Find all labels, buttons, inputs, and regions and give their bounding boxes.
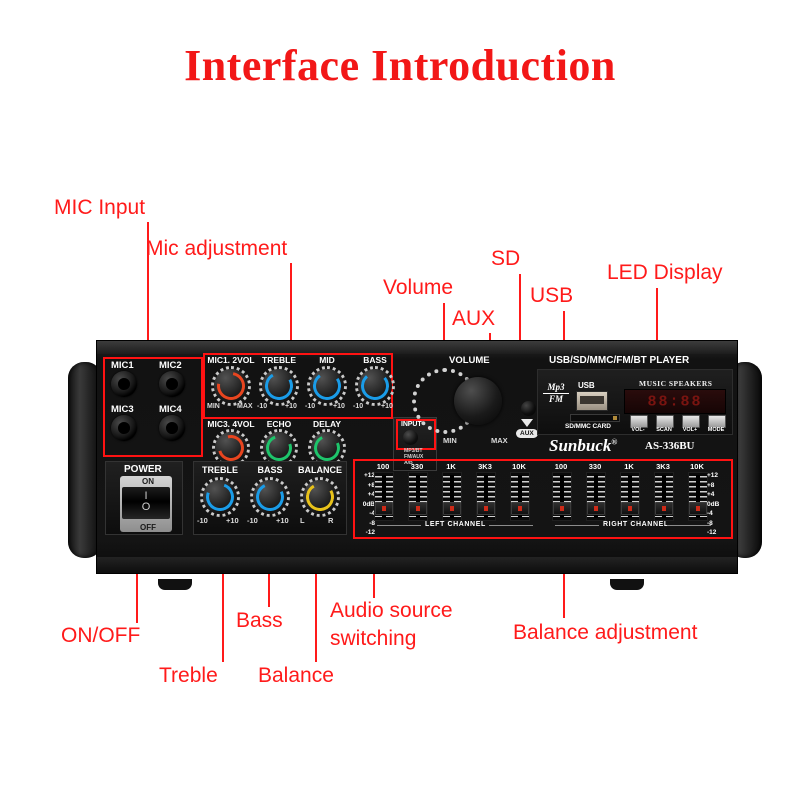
- power-label: POWER: [124, 464, 162, 475]
- eq-slider-r-10k[interactable]: [688, 472, 708, 521]
- brand-name: Sunbuck®: [549, 436, 617, 456]
- power-switch[interactable]: ON I O OFF: [120, 476, 172, 532]
- player-header: USB/SD/MMC/FM/BT PLAYER: [549, 355, 689, 366]
- led-display-value: 88:88: [625, 393, 725, 410]
- button-vol-down-label: VOL-: [624, 427, 652, 433]
- knob-treble-top-max: +10: [285, 403, 297, 410]
- panel-top-trim: [97, 341, 737, 354]
- front-panel: MIC1 MIC2 MIC3 MIC4 MIC1. 2VOL MIN MAX T…: [96, 340, 738, 574]
- knob-balance-min: L: [300, 516, 305, 525]
- chassis-foot-right: [610, 579, 644, 590]
- db-right-6: -12: [707, 530, 725, 540]
- knob-treble-bottom-min: -10: [197, 516, 208, 525]
- amplifier-unit: MIC1 MIC2 MIC3 MIC4 MIC1. 2VOL MIN MAX T…: [62, 340, 768, 580]
- eq-slider-l-10k[interactable]: [510, 472, 530, 521]
- aux-pointer-icon: [521, 419, 533, 427]
- knob-delay-label: DELAY: [301, 419, 353, 429]
- eq-freq-r-330: 330: [581, 462, 609, 471]
- leader-mic-input: [147, 222, 149, 352]
- knob-bass-top-min: -10: [353, 403, 363, 410]
- annotation-aux: AUX: [452, 308, 495, 330]
- db-scale-left: +12 +8 +4 0dB -4 -8 -12: [357, 473, 375, 540]
- annotation-balance: Balance: [258, 665, 334, 687]
- button-scan-label: SCAN: [650, 427, 678, 433]
- right-channel-label: RIGHT CHANNEL: [603, 521, 669, 528]
- knob-treble-bottom-max: +10: [226, 516, 239, 525]
- knob-balance-max: R: [328, 516, 333, 525]
- power-group: POWER ON I O OFF: [105, 461, 183, 535]
- power-symbol-off: O: [122, 501, 170, 513]
- input-selector-knob[interactable]: [403, 430, 418, 445]
- db-scale-right: +12 +8 +4 0dB -4 -8 -12: [707, 473, 725, 540]
- eq-freq-r-3k3: 3K3: [649, 462, 677, 471]
- panel-bottom-trim: [97, 557, 737, 573]
- led-display: 88:88: [624, 389, 726, 414]
- eq-slider-r-100[interactable]: [552, 472, 572, 521]
- annotation-audio-source-line2: switching: [330, 628, 416, 650]
- knob-mic3-4vol[interactable]: MIC3. 4VOL MIN MAX: [209, 419, 253, 467]
- eq-freq-r-10k: 10K: [683, 462, 711, 471]
- knob-bass-top[interactable]: BASS -10 +10: [353, 355, 397, 405]
- mic1-jack[interactable]: [111, 371, 137, 397]
- knob-treble-top-min: -10: [257, 403, 267, 410]
- knob-mic1-2vol-max: MAX: [237, 403, 253, 410]
- sd-card-label: SD/MMC CARD: [565, 423, 611, 430]
- sd-card-slot[interactable]: [570, 414, 620, 422]
- knob-balance-label: BALANCE: [294, 465, 346, 475]
- knob-mic1-2vol-label: MIC1. 2VOL: [205, 355, 257, 365]
- knob-mic1-2vol[interactable]: MIC1. 2VOL MIN MAX: [209, 355, 253, 405]
- eq-freq-r-1k: 1K: [615, 462, 643, 471]
- knob-bass-bottom[interactable]: BASS -10 +10: [247, 465, 293, 527]
- mic2-label: MIC2: [159, 360, 182, 371]
- eq-freq-l-330: 330: [403, 462, 431, 471]
- button-mode-label: MODE: [702, 427, 730, 433]
- annotation-led-display: LED Display: [607, 262, 723, 284]
- knob-bass-bottom-min: -10: [247, 516, 258, 525]
- mic4-label: MIC4: [159, 404, 182, 415]
- mic4-jack[interactable]: [159, 415, 185, 441]
- right-channel-rule-a: [555, 525, 599, 526]
- eq-freq-l-100: 100: [369, 462, 397, 471]
- eq-slider-l-330[interactable]: [408, 472, 428, 521]
- knob-mid-max: +10: [333, 403, 345, 410]
- annotation-sd: SD: [491, 248, 520, 270]
- usb-label: USB: [578, 381, 595, 390]
- chassis-foot-left: [158, 579, 192, 590]
- source-label-mp3: Mp3: [543, 382, 569, 394]
- power-off-label: OFF: [122, 523, 174, 532]
- knob-treble-top[interactable]: TREBLE -10 +10: [257, 355, 301, 405]
- knob-echo-label: ECHO: [253, 419, 305, 429]
- knob-echo[interactable]: ECHO MIN MAX: [257, 419, 301, 467]
- annotation-bass: Bass: [236, 610, 283, 632]
- annotation-volume: Volume: [383, 277, 453, 299]
- knob-delay[interactable]: DELAY S L: [305, 419, 349, 467]
- annotation-treble: Treble: [159, 665, 218, 687]
- eq-freq-l-1k: 1K: [437, 462, 465, 471]
- knob-mid-min: -10: [305, 403, 315, 410]
- brand-trademark: ®: [611, 437, 617, 446]
- equalizer-section: +12 +8 +4 0dB -4 -8 -12 100 330 1K 3K3 1…: [355, 461, 727, 533]
- volume-min: MIN: [443, 436, 457, 445]
- annotation-usb: USB: [530, 285, 573, 307]
- mic2-jack[interactable]: [159, 371, 185, 397]
- knob-mic1-2vol-min: MIN: [207, 403, 220, 410]
- eq-slider-r-330[interactable]: [586, 472, 606, 521]
- knob-bass-top-label: BASS: [349, 355, 401, 365]
- eq-slider-l-100[interactable]: [374, 472, 394, 521]
- knob-balance[interactable]: BALANCE L R: [297, 465, 343, 527]
- eq-slider-r-1k[interactable]: [620, 472, 640, 521]
- annotation-balance-adjustment: Balance adjustment: [513, 622, 697, 644]
- knob-bass-top-max: +10: [381, 403, 393, 410]
- eq-freq-l-3k3: 3K3: [471, 462, 499, 471]
- player-module: Mp3 FM USB SD/MMC CARD MUSIC SPEAKERS 88…: [537, 369, 733, 435]
- left-channel-label: LEFT CHANNEL: [425, 521, 486, 528]
- eq-slider-r-3k3[interactable]: [654, 472, 674, 521]
- knob-mid-label: MID: [301, 355, 353, 365]
- eq-freq-r-100: 100: [547, 462, 575, 471]
- source-label-fm: FM: [549, 394, 563, 404]
- display-title: MUSIC SPEAKERS: [639, 379, 712, 388]
- eq-freq-l-10k: 10K: [505, 462, 533, 471]
- knob-treble-bottom[interactable]: TREBLE -10 +10: [197, 465, 243, 527]
- button-vol-up-label: VOL+: [676, 427, 704, 433]
- knob-mid[interactable]: MID -10 +10: [305, 355, 349, 405]
- knob-treble-bottom-label: TREBLE: [194, 465, 246, 475]
- annotation-audio-source-line1: Audio source: [330, 600, 453, 622]
- leader-mic-adjustment: [290, 263, 292, 352]
- mic1-label: MIC1: [111, 360, 134, 371]
- aux-jack[interactable]: [521, 401, 536, 416]
- annotation-on-off: ON/OFF: [61, 625, 140, 647]
- volume-label: VOLUME: [449, 355, 490, 366]
- page-title: Interface Introduction: [0, 40, 800, 91]
- mic3-jack[interactable]: [111, 415, 137, 441]
- model-number: AS-336BU: [645, 440, 695, 452]
- annotation-mic-adjustment: Mic adjustment: [146, 238, 287, 260]
- volume-knob[interactable]: [454, 377, 502, 425]
- left-channel-rule-b: [489, 525, 533, 526]
- brand-text: Sunbuck: [549, 436, 611, 455]
- source-label: Mp3 FM: [543, 382, 569, 404]
- eq-slider-l-3k3[interactable]: [476, 472, 496, 521]
- usb-port[interactable]: [576, 391, 608, 411]
- knob-bass-bottom-label: BASS: [244, 465, 296, 475]
- knob-mic3-4vol-label: MIC3. 4VOL: [205, 419, 257, 429]
- annotation-mic-input: MIC Input: [54, 197, 145, 219]
- input-selector-label: INPUT: [401, 421, 422, 428]
- knob-bass-bottom-max: +10: [276, 516, 289, 525]
- power-on-label: ON: [122, 477, 174, 486]
- eq-slider-l-1k[interactable]: [442, 472, 462, 521]
- right-channel-rule-b: [667, 525, 711, 526]
- knob-treble-top-label: TREBLE: [253, 355, 305, 365]
- db-left-6: -12: [357, 530, 375, 540]
- left-channel-rule-a: [377, 525, 421, 526]
- mic3-label: MIC3: [111, 404, 134, 415]
- aux-badge-label: AUX: [516, 429, 538, 438]
- volume-max: MAX: [491, 436, 508, 445]
